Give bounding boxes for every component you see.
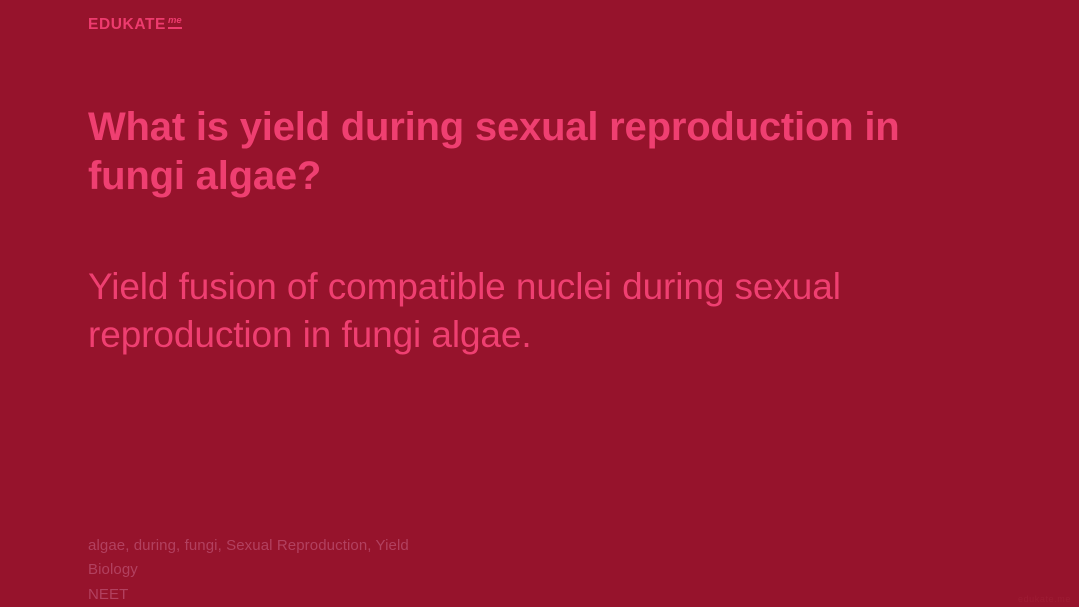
- footer-meta: algae, during, fungi, Sexual Reproductio…: [88, 534, 788, 607]
- brand-suffix-group: me: [168, 16, 182, 29]
- meta-exam: NEET: [88, 583, 788, 607]
- answer-body: Yield fusion of compatible nuclei during…: [88, 263, 978, 359]
- meta-tags: algae, during, fungi, Sexual Reproductio…: [88, 534, 788, 558]
- question-title: What is yield during sexual reproduction…: [88, 103, 978, 201]
- slide-content: What is yield during sexual reproduction…: [88, 103, 988, 359]
- brand-suffix-underline: [168, 27, 182, 29]
- brand-logo[interactable]: EDUKATE me: [88, 17, 182, 33]
- brand-wordmark: EDUKATE: [88, 17, 166, 33]
- watermark: edukate.me: [1018, 594, 1071, 604]
- meta-subject: Biology: [88, 558, 788, 582]
- brand-suffix: me: [168, 16, 182, 26]
- slide-canvas: EDUKATE me What is yield during sexual r…: [0, 0, 1079, 607]
